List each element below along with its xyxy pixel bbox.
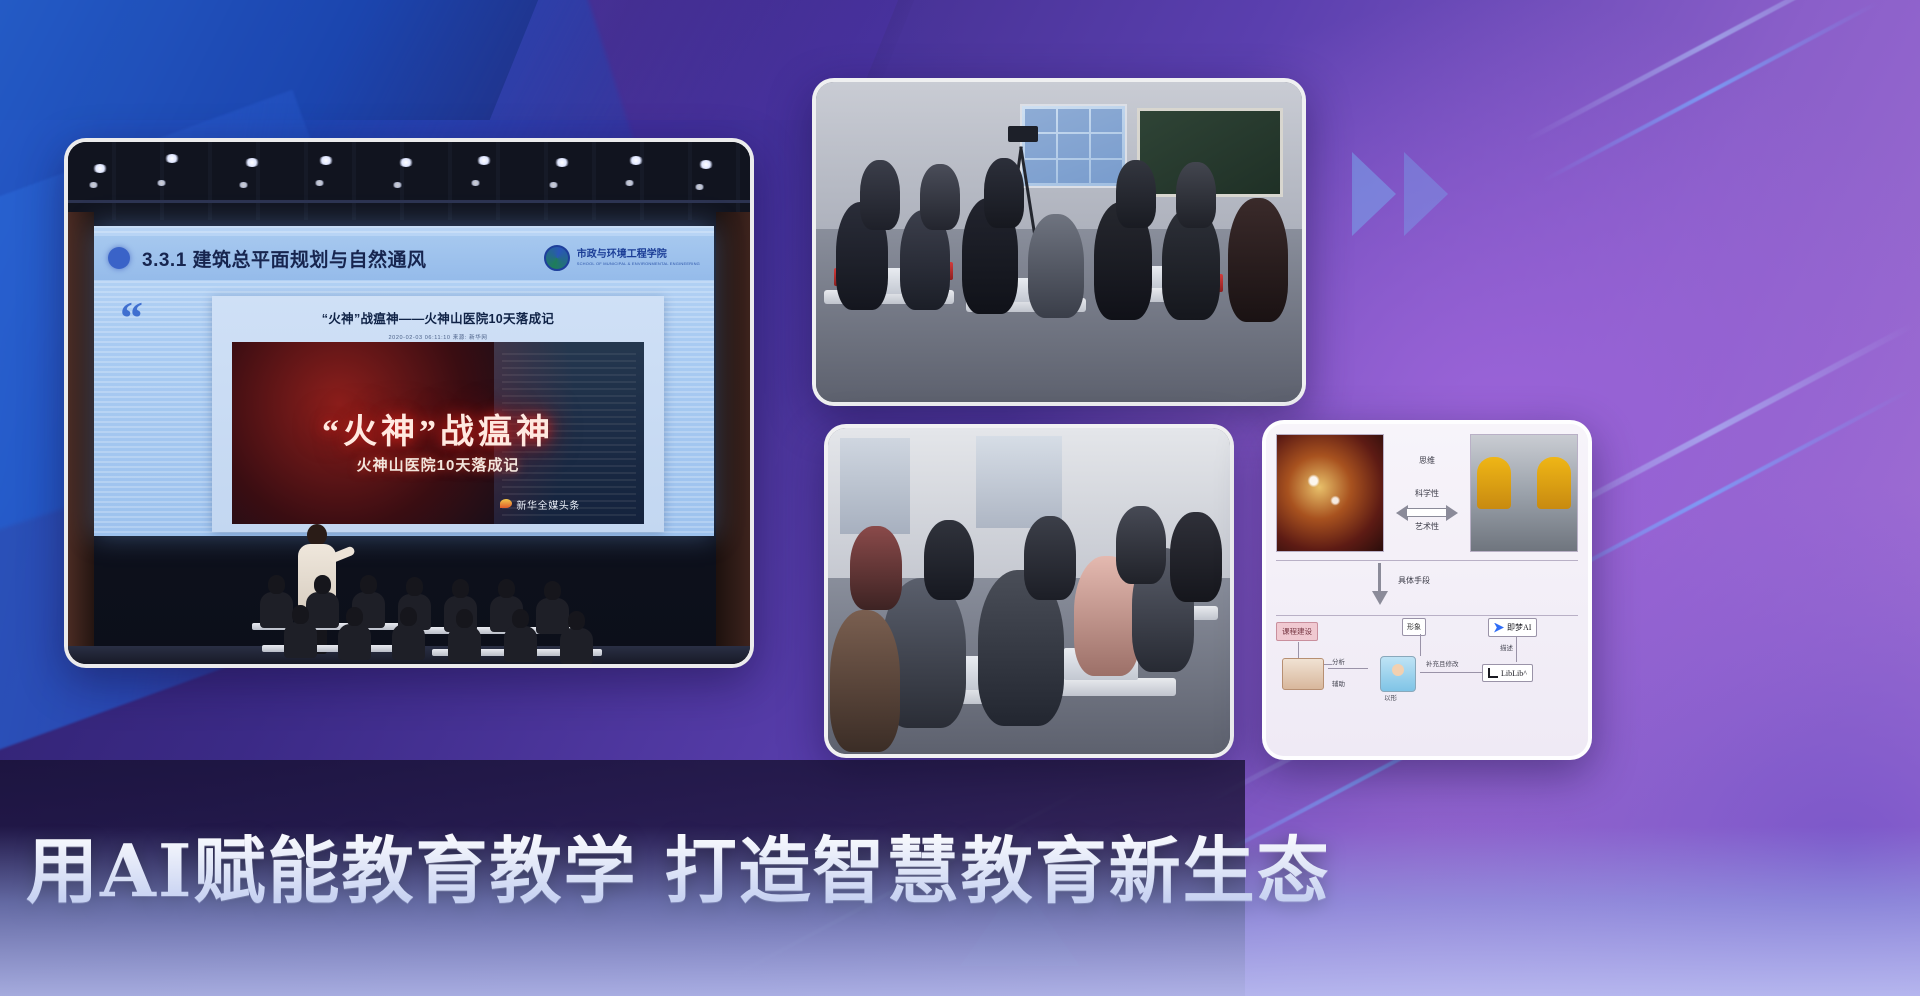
box-image-node: 形象	[1402, 618, 1426, 636]
play-icon	[1494, 623, 1504, 633]
student-figure	[850, 526, 902, 610]
double-arrow-icon	[1396, 502, 1458, 518]
student-figure	[1024, 516, 1076, 600]
audience-person	[260, 592, 293, 628]
brand-liblib-label: LibLib^	[1501, 669, 1527, 678]
chip-course-build: 课程建设	[1276, 622, 1318, 641]
ceiling-light-icon	[156, 180, 167, 186]
bottom-glow	[0, 826, 1920, 996]
photo-classroom-lecture-wide	[812, 78, 1306, 406]
bullet-dot-icon	[108, 247, 130, 269]
chevron-right-icon	[1404, 152, 1448, 236]
ceiling-light-icon	[624, 180, 635, 186]
ceiling-light-icon	[238, 182, 249, 188]
audience-person-head	[360, 575, 377, 594]
ceiling-light-icon	[398, 158, 414, 167]
mountain-logo-icon	[1282, 658, 1324, 690]
audience-person	[392, 624, 425, 660]
slide-title: 3.3.1 建筑总平面规划与自然通风	[142, 245, 427, 272]
label-assist: 辅助	[1332, 678, 1345, 688]
ceiling-light-icon	[470, 180, 481, 186]
student-figure	[1170, 512, 1222, 602]
brand-jimeng-ai: 即梦AI	[1488, 618, 1537, 637]
diagram-top-row: 思维 科学性 艺术性	[1276, 434, 1578, 552]
label-supplement: 补充且修改	[1426, 658, 1459, 668]
diagram-compare-column: 思维 科学性 艺术性	[1384, 434, 1470, 552]
connector-line	[1328, 668, 1368, 669]
audience-person	[284, 622, 317, 658]
brand-liblib: LibLib^	[1482, 664, 1533, 682]
audience-person-head	[406, 577, 423, 596]
liblib-mark-icon	[1488, 668, 1498, 678]
avatar-node-icon	[1380, 656, 1416, 692]
speaker-head	[307, 524, 327, 546]
ceiling-light-icon	[628, 156, 644, 165]
label-describe: 描述	[1500, 642, 1513, 652]
stage-curtain-left	[68, 212, 94, 664]
ceiling-light-icon	[318, 156, 334, 165]
institute-logo: 市政与环境工程学院 SCHOOL OF MUNICIPAL & ENVIRONM…	[544, 245, 700, 271]
student-figure	[860, 160, 900, 230]
document-title: “火神”战瘟神——火神山医院10天落成记	[212, 308, 664, 327]
ceiling-light-icon	[548, 182, 559, 188]
audience-person	[448, 626, 481, 662]
student-figure	[830, 610, 900, 752]
audience-person-head	[268, 575, 285, 594]
audience-person-head	[568, 611, 585, 630]
poster-subtitle: 火神山医院10天落成记	[232, 454, 644, 475]
document-meta: 2020-02-03 06:11:10 来源: 新华网	[212, 333, 664, 341]
ceiling-light-icon	[698, 160, 714, 169]
ceiling-light-icon	[554, 158, 570, 167]
institute-logo-subtext: SCHOOL OF MUNICIPAL & ENVIRONMENTAL ENGI…	[577, 261, 700, 266]
audience-person-head	[400, 607, 417, 626]
quote-mark-icon: “	[120, 302, 143, 334]
label-means: 具体手段	[1398, 575, 1430, 586]
projection-screen: 3.3.1 建筑总平面规划与自然通风 市政与环境工程学院 SCHOOL OF M…	[94, 226, 714, 536]
student-figure	[1116, 506, 1166, 584]
student-figure	[1228, 198, 1288, 322]
ceiling-light-icon	[694, 184, 705, 190]
label-thinking: 思维	[1419, 455, 1435, 466]
slide-header: 3.3.1 建筑总平面规划与自然通风 市政与环境工程学院 SCHOOL OF M…	[94, 236, 714, 280]
label-artistic: 艺术性	[1415, 521, 1439, 532]
audience-rows	[92, 544, 732, 664]
photo-inner: 3.3.1 建筑总平面规划与自然通风 市政与环境工程学院 SCHOOL OF M…	[68, 142, 750, 664]
audience-person-head	[498, 579, 515, 598]
document-poster-image: “火神”战瘟神 火神山医院10天落成记 新华全媒头条	[232, 342, 644, 524]
audience-person-head	[314, 575, 331, 594]
photo-lecture-hall-stage: 3.3.1 建筑总平面规划与自然通风 市政与环境工程学院 SCHOOL OF M…	[64, 138, 754, 668]
ceiling-light-icon	[92, 164, 108, 173]
diagram-body: 思维 科学性 艺术性 具体手段 课程建设 分析 辅助 形象	[1266, 424, 1588, 756]
student-figure	[920, 164, 960, 230]
ceiling-light-icon	[88, 182, 99, 188]
connector-line	[1420, 672, 1488, 673]
student-figure	[1176, 162, 1216, 228]
camera-icon	[1008, 126, 1038, 142]
classroom-scene	[828, 428, 1230, 754]
student-figure	[984, 158, 1024, 228]
chevron-right-icon	[1352, 152, 1396, 236]
window	[840, 438, 910, 534]
audience-person	[338, 624, 371, 660]
label-avatar: 以形	[1384, 692, 1397, 702]
audience-person-head	[346, 607, 363, 626]
ceiling-light-icon	[164, 154, 180, 163]
audience-person	[536, 598, 569, 634]
connector-line	[1516, 636, 1517, 662]
ceiling-light-icon	[244, 158, 260, 167]
label-scientific: 科学性	[1415, 488, 1439, 499]
arrow-down-icon	[1372, 563, 1388, 607]
poster-title: “火神”战瘟神	[232, 404, 644, 453]
audience-person-head	[544, 581, 561, 600]
slide-embedded-document: “火神”战瘟神——火神山医院10天落成记 2020-02-03 06:11:10…	[212, 296, 664, 532]
photo-classroom-students-laptops	[824, 424, 1234, 758]
institute-logo-text: 市政与环境工程学院	[577, 250, 700, 261]
poster-canvas: 3.3.1 建筑总平面规划与自然通风 市政与环境工程学院 SCHOOL OF M…	[0, 0, 1920, 996]
student-figure	[1028, 214, 1084, 318]
diagram-means-row: 具体手段	[1276, 560, 1578, 615]
audience-person-head	[512, 609, 529, 628]
student-figure	[1116, 160, 1156, 228]
brand-jimeng-label: 即梦AI	[1507, 622, 1531, 633]
robotics-thumbnail	[1470, 434, 1578, 552]
artwork-thumbnail	[1276, 434, 1384, 552]
audience-person-head	[456, 609, 473, 628]
connector-line	[1420, 634, 1421, 656]
ceiling-light-icon	[392, 182, 403, 188]
label-analyze: 分析	[1332, 656, 1345, 666]
audience-person	[560, 628, 593, 664]
audience-person-head	[452, 579, 469, 598]
projection-display	[1020, 104, 1127, 187]
photo-ai-course-workflow-diagram: 思维 科学性 艺术性 具体手段 课程建设 分析 辅助 形象	[1262, 420, 1592, 760]
student-figure	[924, 520, 974, 600]
institute-emblem-icon	[544, 245, 570, 271]
audience-person-head	[292, 605, 309, 624]
poster-brand: 新华全媒头条	[516, 497, 580, 512]
diagram-bottom-row: 课程建设 分析 辅助 形象 以形 补充且修改 即梦AI 描述	[1276, 615, 1578, 736]
classroom-scene	[816, 82, 1302, 402]
audience-person	[504, 626, 537, 662]
window	[976, 436, 1062, 528]
ceiling-light-icon	[476, 156, 492, 165]
ceiling-light-icon	[314, 180, 325, 186]
